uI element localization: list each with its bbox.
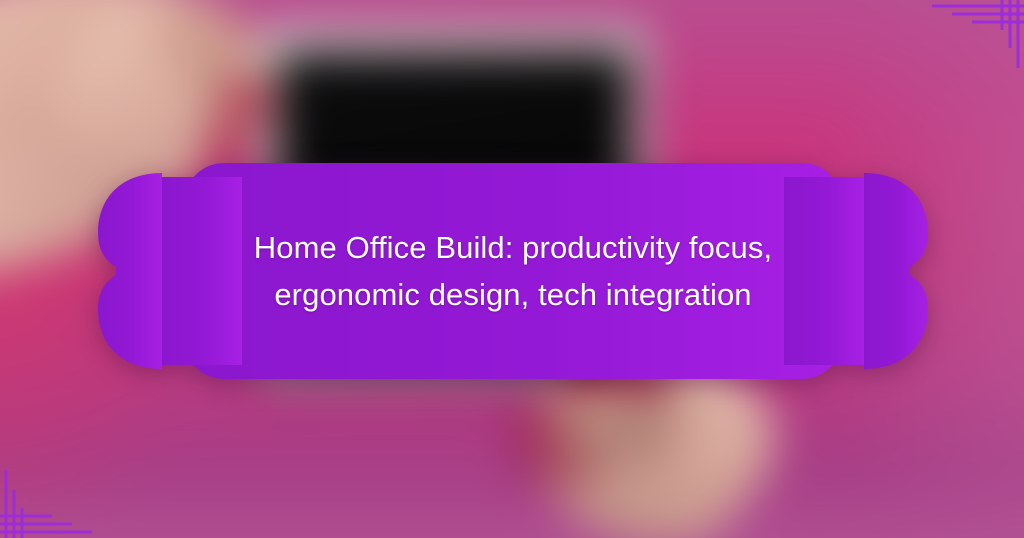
ribbon-banner-shape: [92, 163, 934, 379]
banner-canvas: Home Office Build: productivity focus, e…: [0, 0, 1024, 538]
